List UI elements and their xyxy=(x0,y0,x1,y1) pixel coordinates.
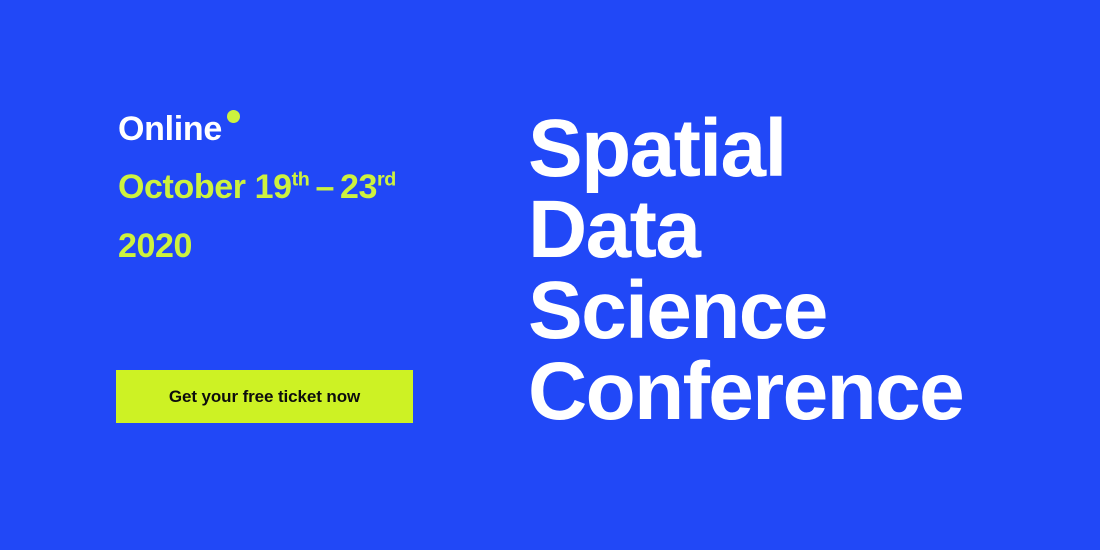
conference-banner: Online October 19th–23rd 2020 Get your f… xyxy=(0,0,1100,550)
status-dot-icon xyxy=(227,110,240,123)
event-month: October xyxy=(118,168,246,206)
event-details-block: Online October 19th–23rd 2020 xyxy=(118,112,478,263)
event-format-row: Online xyxy=(118,112,222,146)
page-title-line: Data xyxy=(528,189,963,270)
event-day-end: 23 xyxy=(340,168,377,206)
page-title-line: Spatial xyxy=(528,108,963,189)
page-title: Spatial Data Science Conference xyxy=(528,108,963,432)
event-day-start: 19 xyxy=(255,168,292,206)
get-ticket-button[interactable]: Get your free ticket now xyxy=(116,370,413,423)
event-day-end-ordinal: rd xyxy=(377,169,396,191)
event-date-separator: – xyxy=(309,168,340,206)
page-title-line: Science xyxy=(528,270,963,351)
page-title-line: Conference xyxy=(528,351,963,432)
event-year: 2020 xyxy=(118,229,478,263)
event-day-start-ordinal: th xyxy=(292,169,310,191)
event-date-range: October 19th–23rd xyxy=(118,170,478,204)
get-ticket-button-label: Get your free ticket now xyxy=(169,388,360,405)
event-format-label: Online xyxy=(118,112,222,146)
